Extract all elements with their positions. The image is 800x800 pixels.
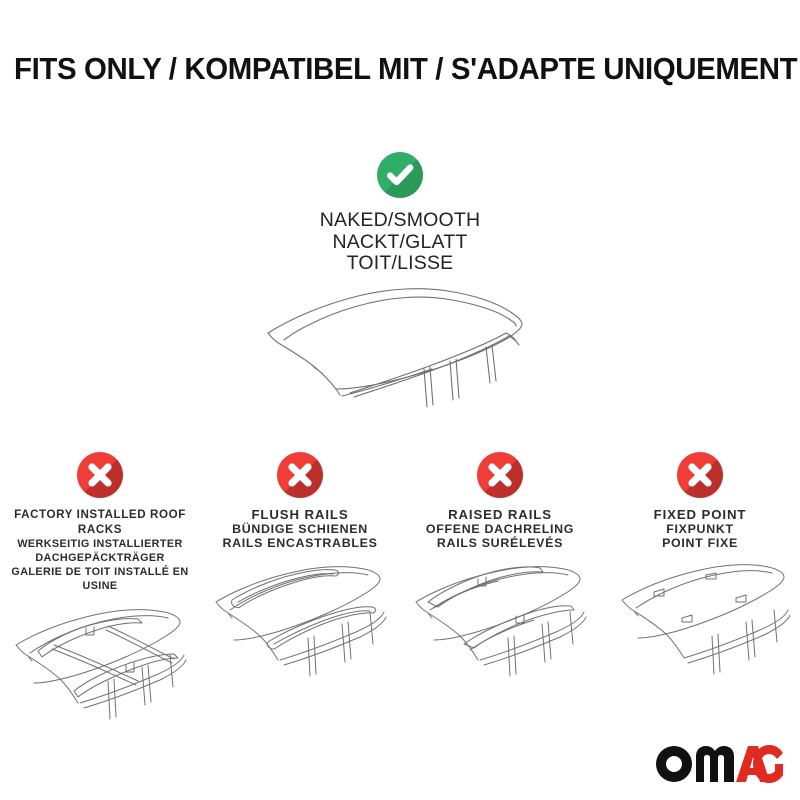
incompatible-item-flush-rails: FLUSH RAILS BÜNDIGE SCHIENEN RAILS ENCAS… xyxy=(200,452,400,706)
header: FITS ONLY / KOMPATIBEL MIT / S'ADAPTE UN… xyxy=(0,52,800,87)
car-roof-naked-illustration xyxy=(0,283,800,413)
incompatible-label-flush-rails: FLUSH RAILS BÜNDIGE SCHIENEN RAILS ENCAS… xyxy=(200,507,400,550)
incompatible-item-raised-rails: RAISED RAILS OFFENE DACHRELING RAILS SUR… xyxy=(400,452,600,706)
car-roof-fixed-point-illustration xyxy=(600,556,800,706)
car-roof-factory-racks-illustration xyxy=(0,599,200,749)
incompatible-label-factory-racks: FACTORY INSTALLED ROOF RACKS WERKSEITIG … xyxy=(0,507,200,593)
page-title: FITS ONLY / KOMPATIBEL MIT / S'ADAPTE UN… xyxy=(14,52,786,87)
compatible-block: NAKED/SMOOTH NACKT/GLATT TOIT/LISSE xyxy=(0,152,800,413)
incompatible-label-fixed-point: FIXED POINT FIXPUNKT POINT FIXE xyxy=(600,507,800,550)
x-circle-icon xyxy=(677,452,723,498)
x-circle-icon xyxy=(277,452,323,498)
label-en: FIXED POINT xyxy=(600,507,800,522)
incompatible-row: FACTORY INSTALLED ROOF RACKS WERKSEITIG … xyxy=(0,452,800,749)
car-roof-flush-rails-illustration xyxy=(200,556,400,706)
incompatible-label-raised-rails: RAISED RAILS OFFENE DACHRELING RAILS SUR… xyxy=(400,507,600,550)
label-de: WERKSEITIG INSTALLIERTER DACHGEPÄCKTRÄGE… xyxy=(0,537,200,565)
fitment-guide-page: FITS ONLY / KOMPATIBEL MIT / S'ADAPTE UN… xyxy=(0,0,800,800)
label-fr: GALERIE DE TOIT INSTALLÉ EN USINE xyxy=(0,565,200,593)
compatible-label-de: NACKT/GLATT xyxy=(0,232,800,254)
x-circle-icon xyxy=(77,452,123,498)
incompatible-item-fixed-point: FIXED POINT FIXPUNKT POINT FIXE xyxy=(600,452,800,706)
label-fr: POINT FIXE xyxy=(600,536,800,550)
compatible-label: NAKED/SMOOTH NACKT/GLATT TOIT/LISSE xyxy=(0,210,800,275)
label-fr: RAILS ENCASTRABLES xyxy=(200,536,400,550)
label-en: RAISED RAILS xyxy=(400,507,600,522)
compatible-label-en: NAKED/SMOOTH xyxy=(0,210,800,232)
label-de: FIXPUNKT xyxy=(600,522,800,536)
label-en: FLUSH RAILS xyxy=(200,507,400,522)
check-circle-icon xyxy=(377,152,423,198)
car-roof-raised-rails-illustration xyxy=(400,556,600,706)
compatible-label-fr: TOIT/LISSE xyxy=(0,253,800,275)
label-en: FACTORY INSTALLED ROOF RACKS xyxy=(0,507,200,537)
label-de: OFFENE DACHRELING xyxy=(400,522,600,536)
incompatible-item-factory-racks: FACTORY INSTALLED ROOF RACKS WERKSEITIG … xyxy=(0,452,200,749)
label-fr: RAILS SURÉLEVÉS xyxy=(400,536,600,550)
x-circle-icon xyxy=(477,452,523,498)
omac-logo xyxy=(654,742,784,786)
label-de: BÜNDIGE SCHIENEN xyxy=(200,522,400,536)
